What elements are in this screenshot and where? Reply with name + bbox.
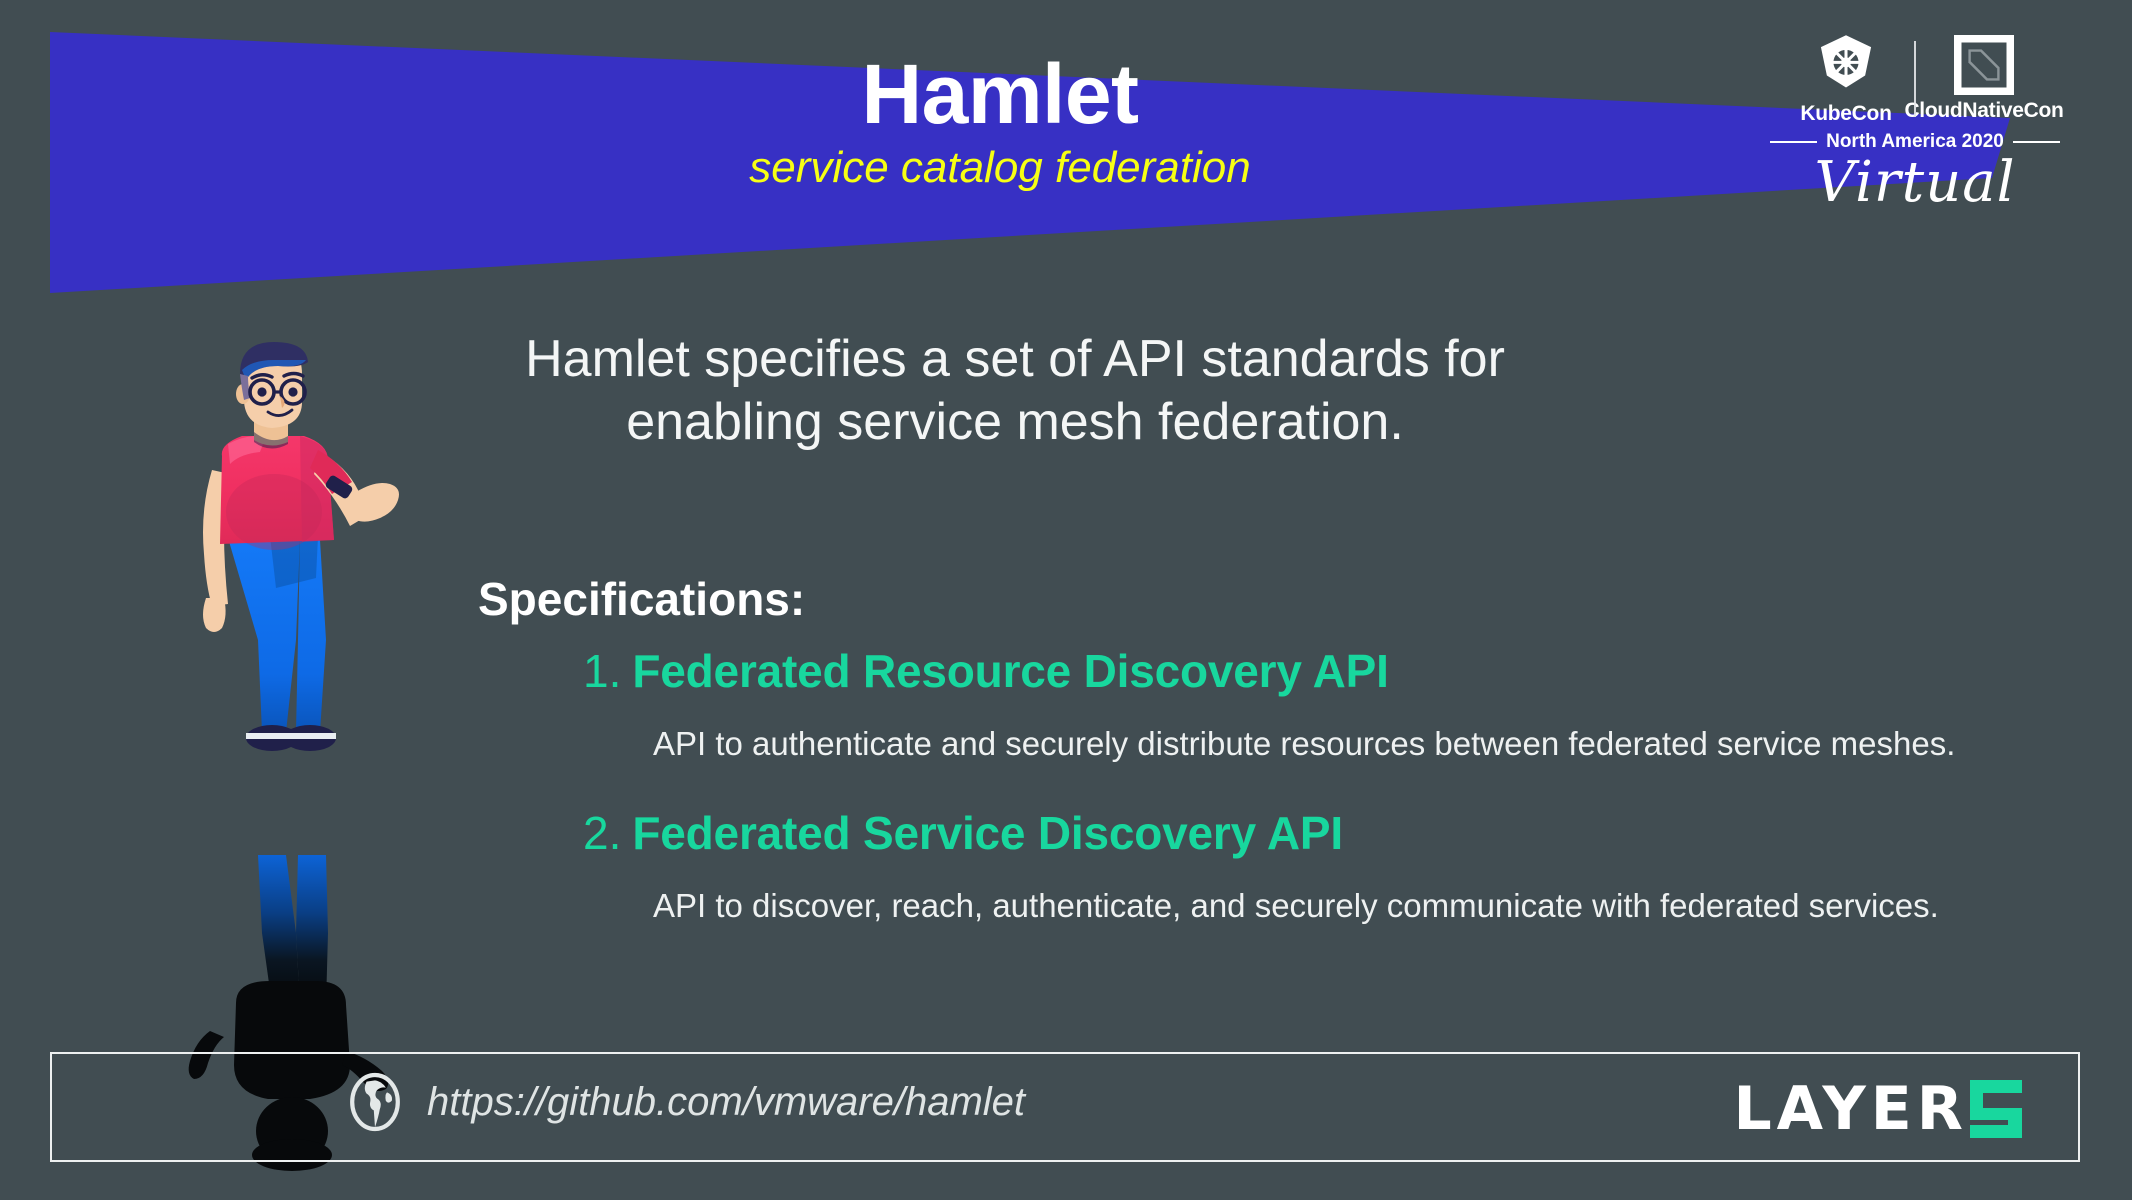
cloudnativecon-square-icon — [1954, 35, 2014, 95]
specifications-section: Specifications: 1. Federated Resource Di… — [478, 572, 2038, 967]
kubecon-label: KubeCon — [1800, 102, 1891, 126]
conference-logo: KubeCon CloudNativeCon North America 202… — [1770, 32, 2060, 211]
spec-title-row: 2. Federated Service Discovery API — [478, 806, 2038, 860]
globe-icon — [345, 1072, 405, 1132]
footer-url-group[interactable]: https://github.com/vmware/hamlet — [345, 1072, 1025, 1132]
spec-title: Federated Resource Discovery API — [632, 644, 1388, 698]
intro-line-1: Hamlet specifies a set of API standards … — [430, 328, 1600, 391]
conference-icons-row: KubeCon CloudNativeCon — [1770, 32, 2060, 126]
logo-divider — [1914, 41, 1916, 117]
spec-title: Federated Service Discovery API — [632, 806, 1343, 860]
footer-url-text[interactable]: https://github.com/vmware/hamlet — [427, 1080, 1025, 1125]
specifications-heading: Specifications: — [478, 572, 2038, 626]
title-block: Hamlet service catalog federation — [300, 52, 1700, 192]
page-title: Hamlet — [300, 52, 1700, 138]
rule-right — [2013, 141, 2060, 143]
spec-number: 2. — [583, 806, 621, 860]
kubecon-cell: KubeCon — [1786, 32, 1906, 126]
conference-format: Virtual — [1770, 155, 2060, 211]
intro-line-2: enabling service mesh federation. — [430, 391, 1600, 454]
page-subtitle: service catalog federation — [300, 144, 1700, 192]
person-presenting-illustration — [150, 340, 420, 860]
intro-paragraph: Hamlet specifies a set of API standards … — [430, 328, 1600, 455]
cloudnativecon-cell: CloudNativeCon — [1924, 35, 2044, 123]
kubernetes-helm-wheel-icon — [1813, 32, 1879, 98]
spec-description: API to authenticate and securely distrib… — [478, 724, 2038, 764]
spec-description: API to discover, reach, authenticate, an… — [478, 886, 2038, 926]
layer5-wordmark: LAYER — [1733, 1079, 1968, 1139]
layer5-logo: LAYER — [1733, 1078, 2024, 1140]
cloudnativecon-label: CloudNativeCon — [1904, 99, 2063, 123]
spec-number: 1. — [583, 644, 621, 698]
spec-title-row: 1. Federated Resource Discovery API — [478, 644, 2038, 698]
spec-item: 1. Federated Resource Discovery API API … — [478, 644, 2038, 764]
spec-item: 2. Federated Service Discovery API API t… — [478, 806, 2038, 926]
presentation-slide: Hamlet service catalog federation — [0, 0, 2132, 1200]
rule-left — [1770, 141, 1817, 143]
layer5-digit-icon — [1968, 1078, 2024, 1140]
